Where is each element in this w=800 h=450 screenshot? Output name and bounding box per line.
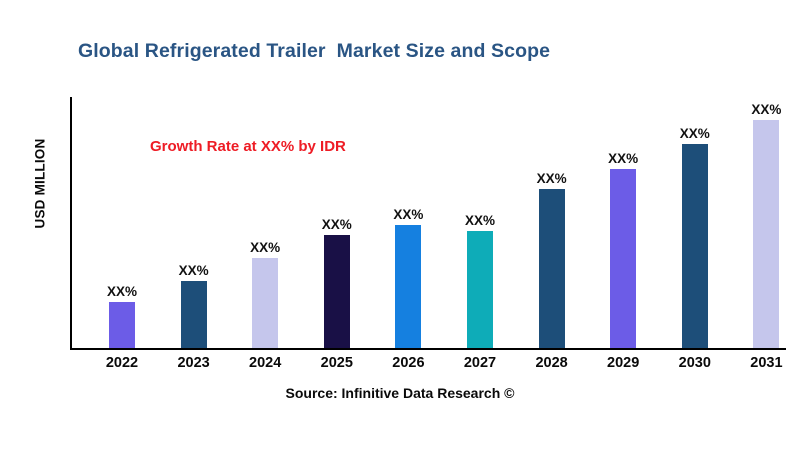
bar-value-label-2030: XX% <box>665 126 725 141</box>
chart-container: Global Refrigerated Trailer Market Size … <box>0 0 800 450</box>
bar-value-label-2028: XX% <box>522 171 582 186</box>
x-tick-2023: 2023 <box>164 355 224 371</box>
x-tick-2022: 2022 <box>92 355 152 371</box>
bar-2028[interactable] <box>539 189 565 348</box>
x-axis-line <box>70 348 786 350</box>
x-tick-2024: 2024 <box>235 355 295 371</box>
x-tick-2027: 2027 <box>450 355 510 371</box>
bar-value-label-2023: XX% <box>164 263 224 278</box>
bar-2031[interactable] <box>753 120 779 348</box>
plot-area: XX%XX%XX%XX%XX%XX%XX%XX%XX%XX% 202220232… <box>70 97 786 350</box>
bar-2025[interactable] <box>324 235 350 348</box>
bar-value-label-2027: XX% <box>450 213 510 228</box>
x-tick-2031: 2031 <box>736 355 796 371</box>
x-tick-2026: 2026 <box>378 355 438 371</box>
bar-2022[interactable] <box>109 302 135 348</box>
bar-value-label-2026: XX% <box>378 207 438 222</box>
bar-2023[interactable] <box>181 281 207 348</box>
x-tick-2025: 2025 <box>307 355 367 371</box>
bar-2029[interactable] <box>610 169 636 348</box>
source-caption: Source: Infinitive Data Research © <box>0 385 800 401</box>
bar-value-label-2024: XX% <box>235 240 295 255</box>
bar-2027[interactable] <box>467 231 493 348</box>
x-tick-2029: 2029 <box>593 355 653 371</box>
bar-value-label-2029: XX% <box>593 151 653 166</box>
page-title: Global Refrigerated Trailer Market Size … <box>78 40 550 63</box>
y-axis-title: USD MILLION <box>33 104 48 264</box>
bar-2030[interactable] <box>682 144 708 348</box>
bar-2024[interactable] <box>252 258 278 348</box>
bar-value-label-2022: XX% <box>92 284 152 299</box>
y-axis-line <box>70 97 72 350</box>
bar-value-label-2031: XX% <box>736 102 796 117</box>
x-tick-2030: 2030 <box>665 355 725 371</box>
bar-value-label-2025: XX% <box>307 217 367 232</box>
bar-2026[interactable] <box>395 225 421 348</box>
x-tick-2028: 2028 <box>522 355 582 371</box>
